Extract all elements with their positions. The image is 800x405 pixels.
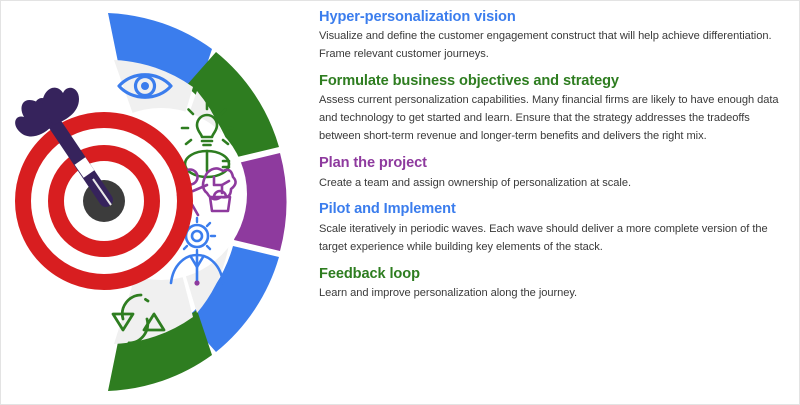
wheel-svg [1, 1, 311, 404]
section-pilot: Pilot and Implement Scale iteratively in… [319, 201, 789, 256]
dart-band [80, 161, 89, 174]
infographic-page: Hyper-personalization vision Visualize a… [0, 0, 800, 405]
section-plan: Plan the project Create a team and assig… [319, 155, 789, 192]
section-feedback: Feedback loop Learn and improve personal… [319, 266, 789, 303]
section-title: Plan the project [319, 155, 789, 172]
section-body: Create a team and assign ownership of pe… [319, 175, 781, 193]
section-body: Visualize and define the customer engage… [319, 28, 781, 64]
section-title: Pilot and Implement [319, 201, 789, 218]
section-body: Learn and improve personalization along … [319, 285, 781, 303]
section-strategy: Formulate business objectives and strate… [319, 73, 789, 146]
section-title: Feedback loop [319, 266, 789, 283]
journey-wheel-graphic [1, 1, 311, 404]
sections-column: Hyper-personalization vision Visualize a… [311, 1, 799, 404]
section-body: Scale iteratively in periodic waves. Eac… [319, 221, 781, 257]
section-body: Assess current personalization capabilit… [319, 92, 781, 146]
section-title: Hyper-personalization vision [319, 9, 789, 26]
section-title: Formulate business objectives and strate… [319, 73, 789, 90]
section-vision: Hyper-personalization vision Visualize a… [319, 9, 789, 64]
